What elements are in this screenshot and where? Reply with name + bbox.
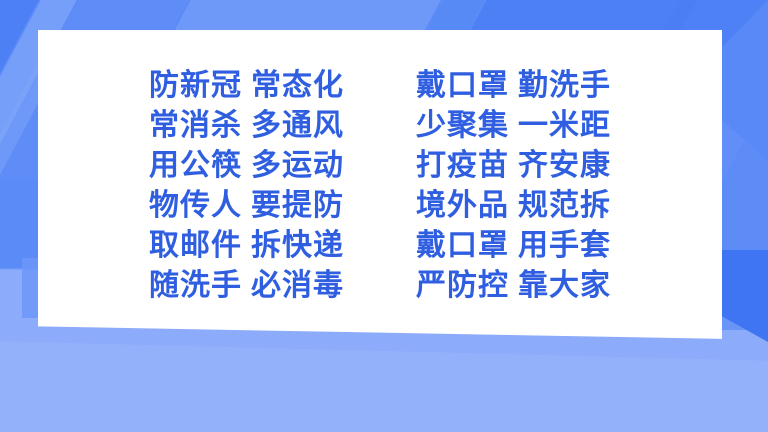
poster-canvas: 防新冠常态化 常消杀多通风 用公筷多运动 物传人要提防 取邮件拆快递 随洗手必消… bbox=[0, 0, 768, 432]
white-content-card bbox=[38, 30, 722, 342]
card-corner-notch-left bbox=[22, 258, 40, 318]
